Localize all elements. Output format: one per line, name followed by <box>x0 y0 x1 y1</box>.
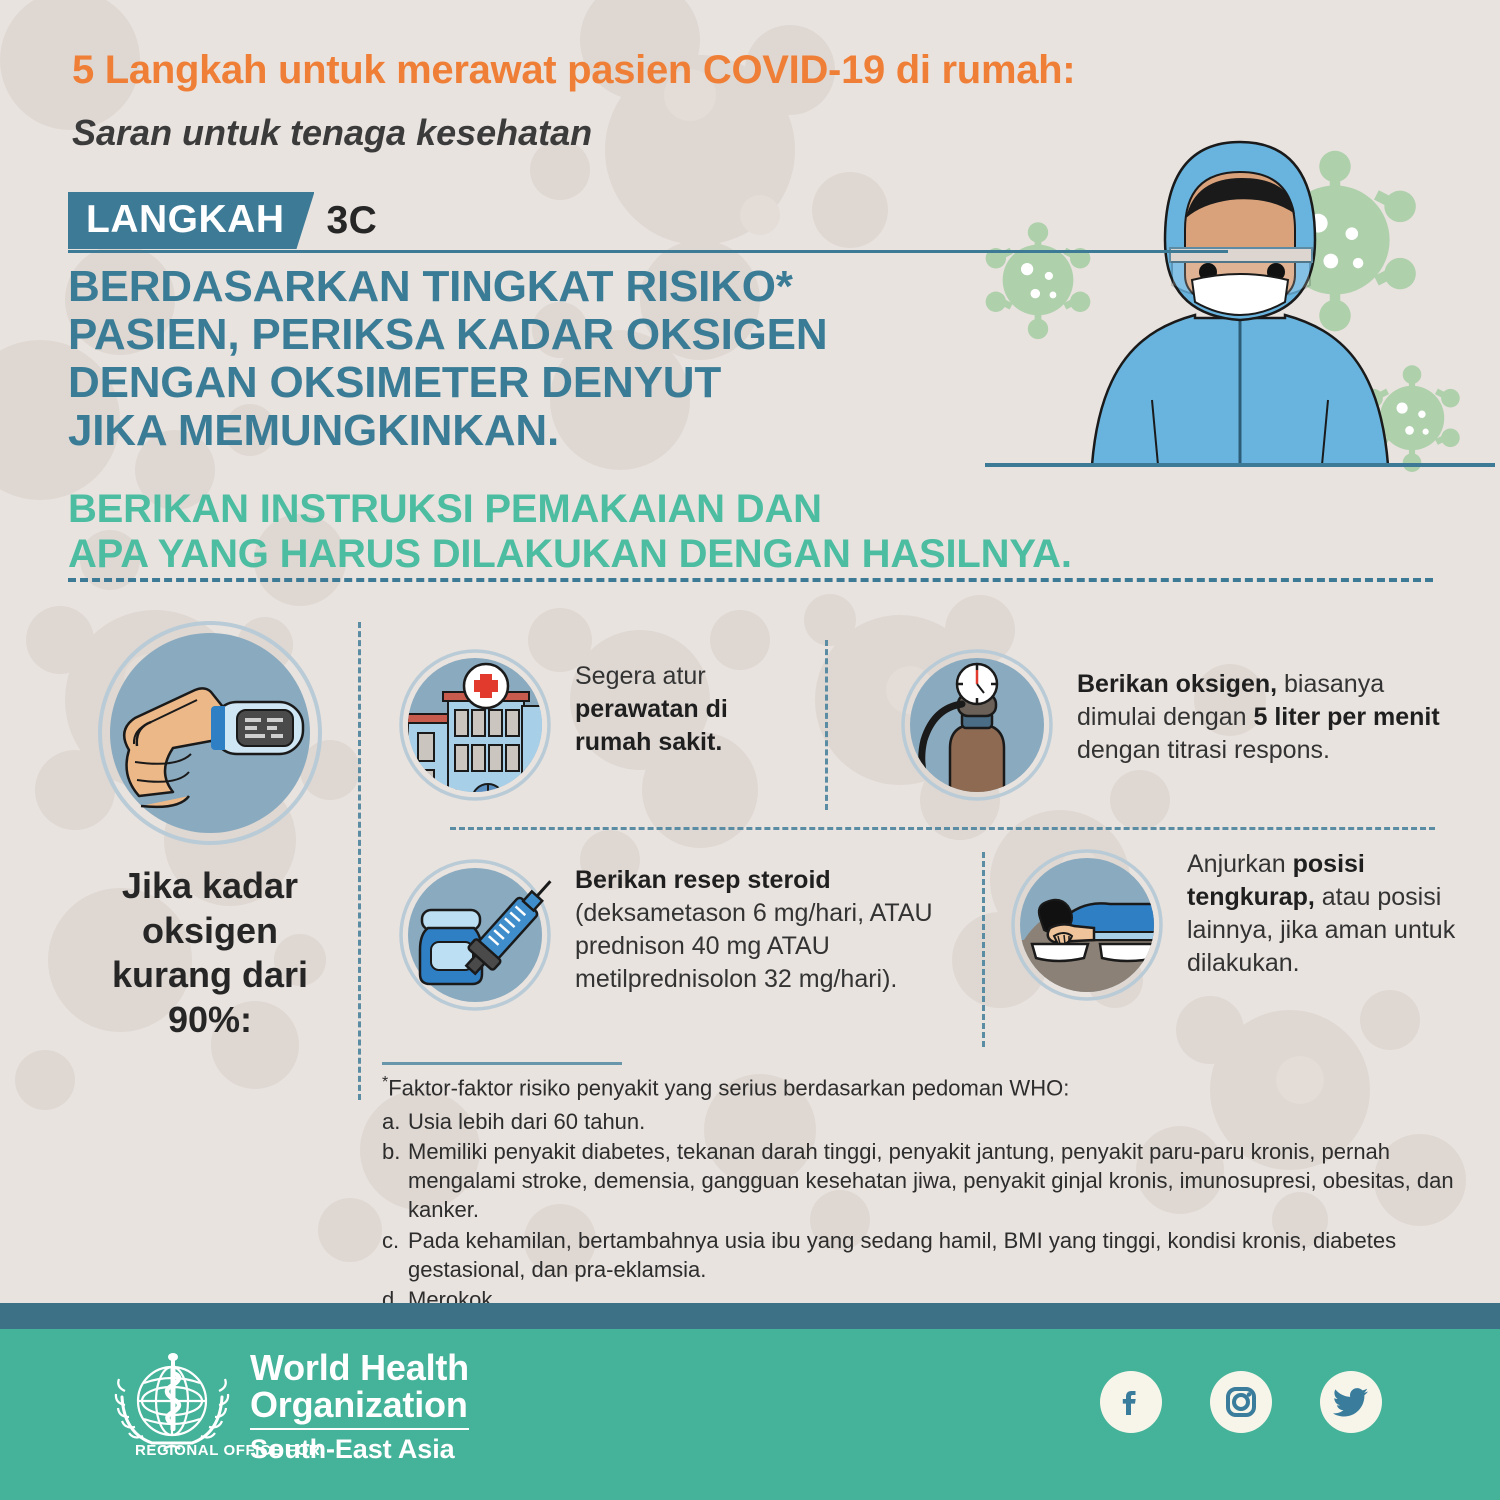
list-marker: c. <box>382 1226 408 1285</box>
heading-line: APA YANG HARUS DILAKUKAN DENGAN HASILNYA… <box>68 532 1072 577</box>
badge-underline <box>68 250 1228 253</box>
facebook-icon <box>1114 1385 1148 1419</box>
card-oxygen: Berikan oksigen, biasanya dimulai dengan… <box>900 648 1440 803</box>
oxygen-threshold-text: Jika kadar oksigen kurang dari 90%: <box>70 864 350 1043</box>
infographic-page: 5 Langkah untuk merawat pasien COVID-19 … <box>0 0 1500 1500</box>
card-text-part: dengan titrasi respons. <box>1077 736 1330 764</box>
page-subtitle: Saran untuk tenaga kesehatan <box>72 112 592 154</box>
card-text-part-bold: Berikan oksigen, <box>1077 670 1277 698</box>
list-item: c.Pada kehamilan, bertambahnya usia ibu … <box>382 1226 1472 1285</box>
facebook-button[interactable] <box>1100 1371 1162 1433</box>
threshold-line: kurang dari <box>70 953 350 998</box>
footnote-rule <box>382 1062 622 1065</box>
step-heading-blue: BERDASARKAN TINGKAT RISIKO* PASIEN, PERI… <box>68 263 827 455</box>
who-line-2: Organization <box>250 1386 469 1423</box>
vial-and-syringe-icon <box>398 858 553 1013</box>
footer-accent-strip <box>0 1303 1500 1329</box>
instagram-button[interactable] <box>1210 1371 1272 1433</box>
list-item: a.Usia lebih dari 60 tahun. <box>382 1107 1472 1136</box>
prone-position-patient-icon <box>1010 848 1165 1003</box>
divider-top <box>68 578 1433 582</box>
threshold-line: oksigen <box>70 909 350 954</box>
oxygen-cylinder-icon <box>900 648 1055 803</box>
threshold-line: Jika kadar <box>70 864 350 909</box>
who-logo: World Health Organization REGIONAL OFFIC… <box>108 1345 469 1473</box>
list-marker: b. <box>382 1137 408 1225</box>
card-hospital: Segera atur perawatan di rumah sakit. <box>398 648 798 803</box>
heading-line: JIKA MEMUNGKINKAN. <box>68 407 827 455</box>
heading-line: PASIEN, PERIKSA KADAR OKSIGEN <box>68 311 827 359</box>
list-marker: a. <box>382 1107 408 1136</box>
who-divider <box>250 1428 469 1430</box>
threshold-line: 90%: <box>70 998 350 1043</box>
who-wordmark: World Health Organization REGIONAL OFFIC… <box>250 1345 469 1465</box>
pulse-oximeter-on-finger-icon <box>77 620 343 846</box>
card-text-part: Segera atur <box>575 662 706 690</box>
who-region-row: REGIONAL OFFICE FOR South-East Asia <box>250 1434 469 1465</box>
card-prone-text: Anjurkan posisi tengkurap, atau posisi l… <box>1187 848 1460 980</box>
instagram-icon <box>1224 1385 1258 1419</box>
hospital-building-icon <box>398 648 553 803</box>
healthcare-worker-illustration <box>980 100 1500 500</box>
footnote-block: *Faktor-faktor risiko penyakit yang seri… <box>382 1072 1472 1315</box>
card-text-part: (deksametason 6 mg/hari, ATAU prednison … <box>575 899 933 993</box>
heading-line: BERIKAN INSTRUKSI PEMAKAIAN DAN <box>68 487 1072 532</box>
heading-line: BERDASARKAN TINGKAT RISIKO* <box>68 263 827 311</box>
list-text: Memiliki penyakit diabetes, tekanan dara… <box>408 1137 1472 1225</box>
page-title: 5 Langkah untuk merawat pasien COVID-19 … <box>72 48 1075 93</box>
twitter-icon <box>1333 1386 1369 1418</box>
footnote-title: *Faktor-faktor risiko penyakit yang seri… <box>382 1072 1472 1103</box>
footnote-list: a.Usia lebih dari 60 tahun. b.Memiliki p… <box>382 1107 1472 1315</box>
heading-line: DENGAN OKSIMETER DENYUT <box>68 359 827 407</box>
card-steroid: Berikan resep steroid (deksametason 6 mg… <box>398 858 958 1013</box>
card-text-part: Anjurkan <box>1187 850 1293 878</box>
card-text-part-bold: 5 liter per menit <box>1254 703 1440 731</box>
footnote-title-text: Faktor-faktor risiko penyakit yang seriu… <box>388 1075 1069 1100</box>
oxygen-threshold-block: Jika kadar oksigen kurang dari 90%: <box>70 620 350 1043</box>
step-heading-green: BERIKAN INSTRUKSI PEMAKAIAN DAN APA YANG… <box>68 487 1072 577</box>
card-oxygen-text: Berikan oksigen, biasanya dimulai dengan… <box>1077 668 1440 767</box>
card-prone: Anjurkan posisi tengkurap, atau posisi l… <box>1010 848 1460 1003</box>
list-item: b.Memiliki penyakit diabetes, tekanan da… <box>382 1137 1472 1225</box>
card-hospital-text: Segera atur perawatan di rumah sakit. <box>575 660 798 759</box>
card-steroid-text: Berikan resep steroid (deksametason 6 mg… <box>575 864 958 996</box>
step-badge: LANGKAH 3C <box>68 192 377 249</box>
divider-vertical-bottom-cards <box>982 852 985 1047</box>
step-badge-number: 3C <box>326 199 377 243</box>
divider-vertical-top-cards <box>825 640 828 810</box>
who-regional-label: REGIONAL OFFICE FOR <box>135 1442 320 1459</box>
twitter-button[interactable] <box>1320 1371 1382 1433</box>
divider-vertical-left <box>358 622 361 1100</box>
list-text: Pada kehamilan, bertambahnya usia ibu ya… <box>408 1226 1472 1285</box>
card-text-part-bold: Berikan resep steroid <box>575 866 831 894</box>
card-text-part-bold: perawatan di rumah sakit. <box>575 695 728 756</box>
step-badge-label: LANGKAH <box>68 192 314 249</box>
who-line-1: World Health <box>250 1349 469 1386</box>
divider-horizontal-cards <box>450 827 1435 830</box>
list-text: Usia lebih dari 60 tahun. <box>408 1107 1472 1136</box>
